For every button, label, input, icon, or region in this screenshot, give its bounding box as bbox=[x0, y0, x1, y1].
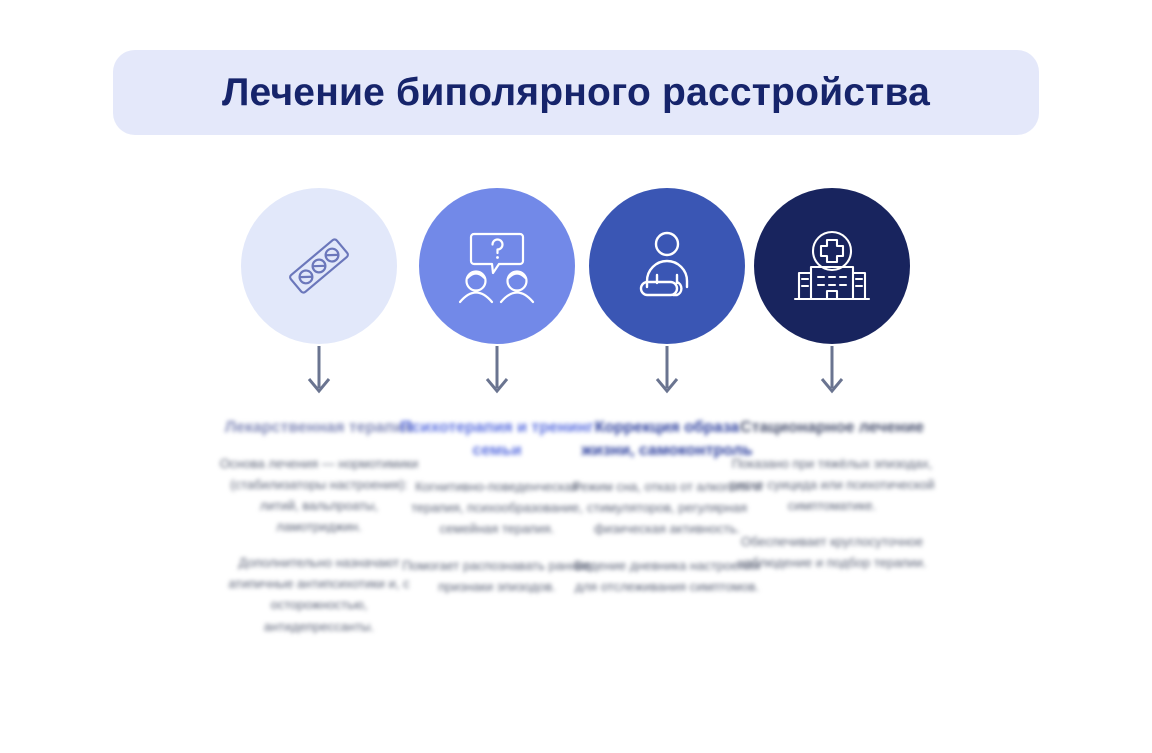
down-arrow-icon bbox=[302, 346, 336, 398]
down-arrow-icon bbox=[480, 346, 514, 398]
people-question-bubble-icon bbox=[454, 226, 540, 306]
down-arrow-icon bbox=[650, 346, 684, 398]
connector-arrow-psychotherapy bbox=[477, 346, 517, 402]
paragraph: Показано при тяжёлых эпизодах, риске суи… bbox=[730, 453, 935, 516]
connector-arrow-lifestyle bbox=[647, 346, 687, 402]
page-title: Лечение биполярного расстройства bbox=[222, 71, 930, 115]
column-heading-inpatient: Стационарное лечение bbox=[732, 416, 932, 439]
hospital-cross-icon bbox=[791, 227, 873, 305]
connector-arrow-inpatient bbox=[812, 346, 852, 402]
person-meditating-icon bbox=[627, 227, 707, 305]
icon-circle-inpatient bbox=[754, 188, 910, 344]
title-banner: Лечение биполярного расстройства bbox=[113, 50, 1039, 135]
infographic-canvas: Лечение биполярного расстройства bbox=[0, 0, 1152, 753]
paragraph: Обеспечивает круглосуточное наблюдение и… bbox=[730, 531, 935, 573]
down-arrow-icon bbox=[815, 346, 849, 398]
pill-blister-pack-icon bbox=[280, 227, 358, 305]
icon-circle-medication bbox=[241, 188, 397, 344]
connector-arrow-medication bbox=[299, 346, 339, 402]
column-inpatient: Стационарное лечение Показано при тяжёлы… bbox=[717, 188, 947, 573]
column-body-inpatient: Показано при тяжёлых эпизодах, риске суи… bbox=[730, 453, 935, 573]
